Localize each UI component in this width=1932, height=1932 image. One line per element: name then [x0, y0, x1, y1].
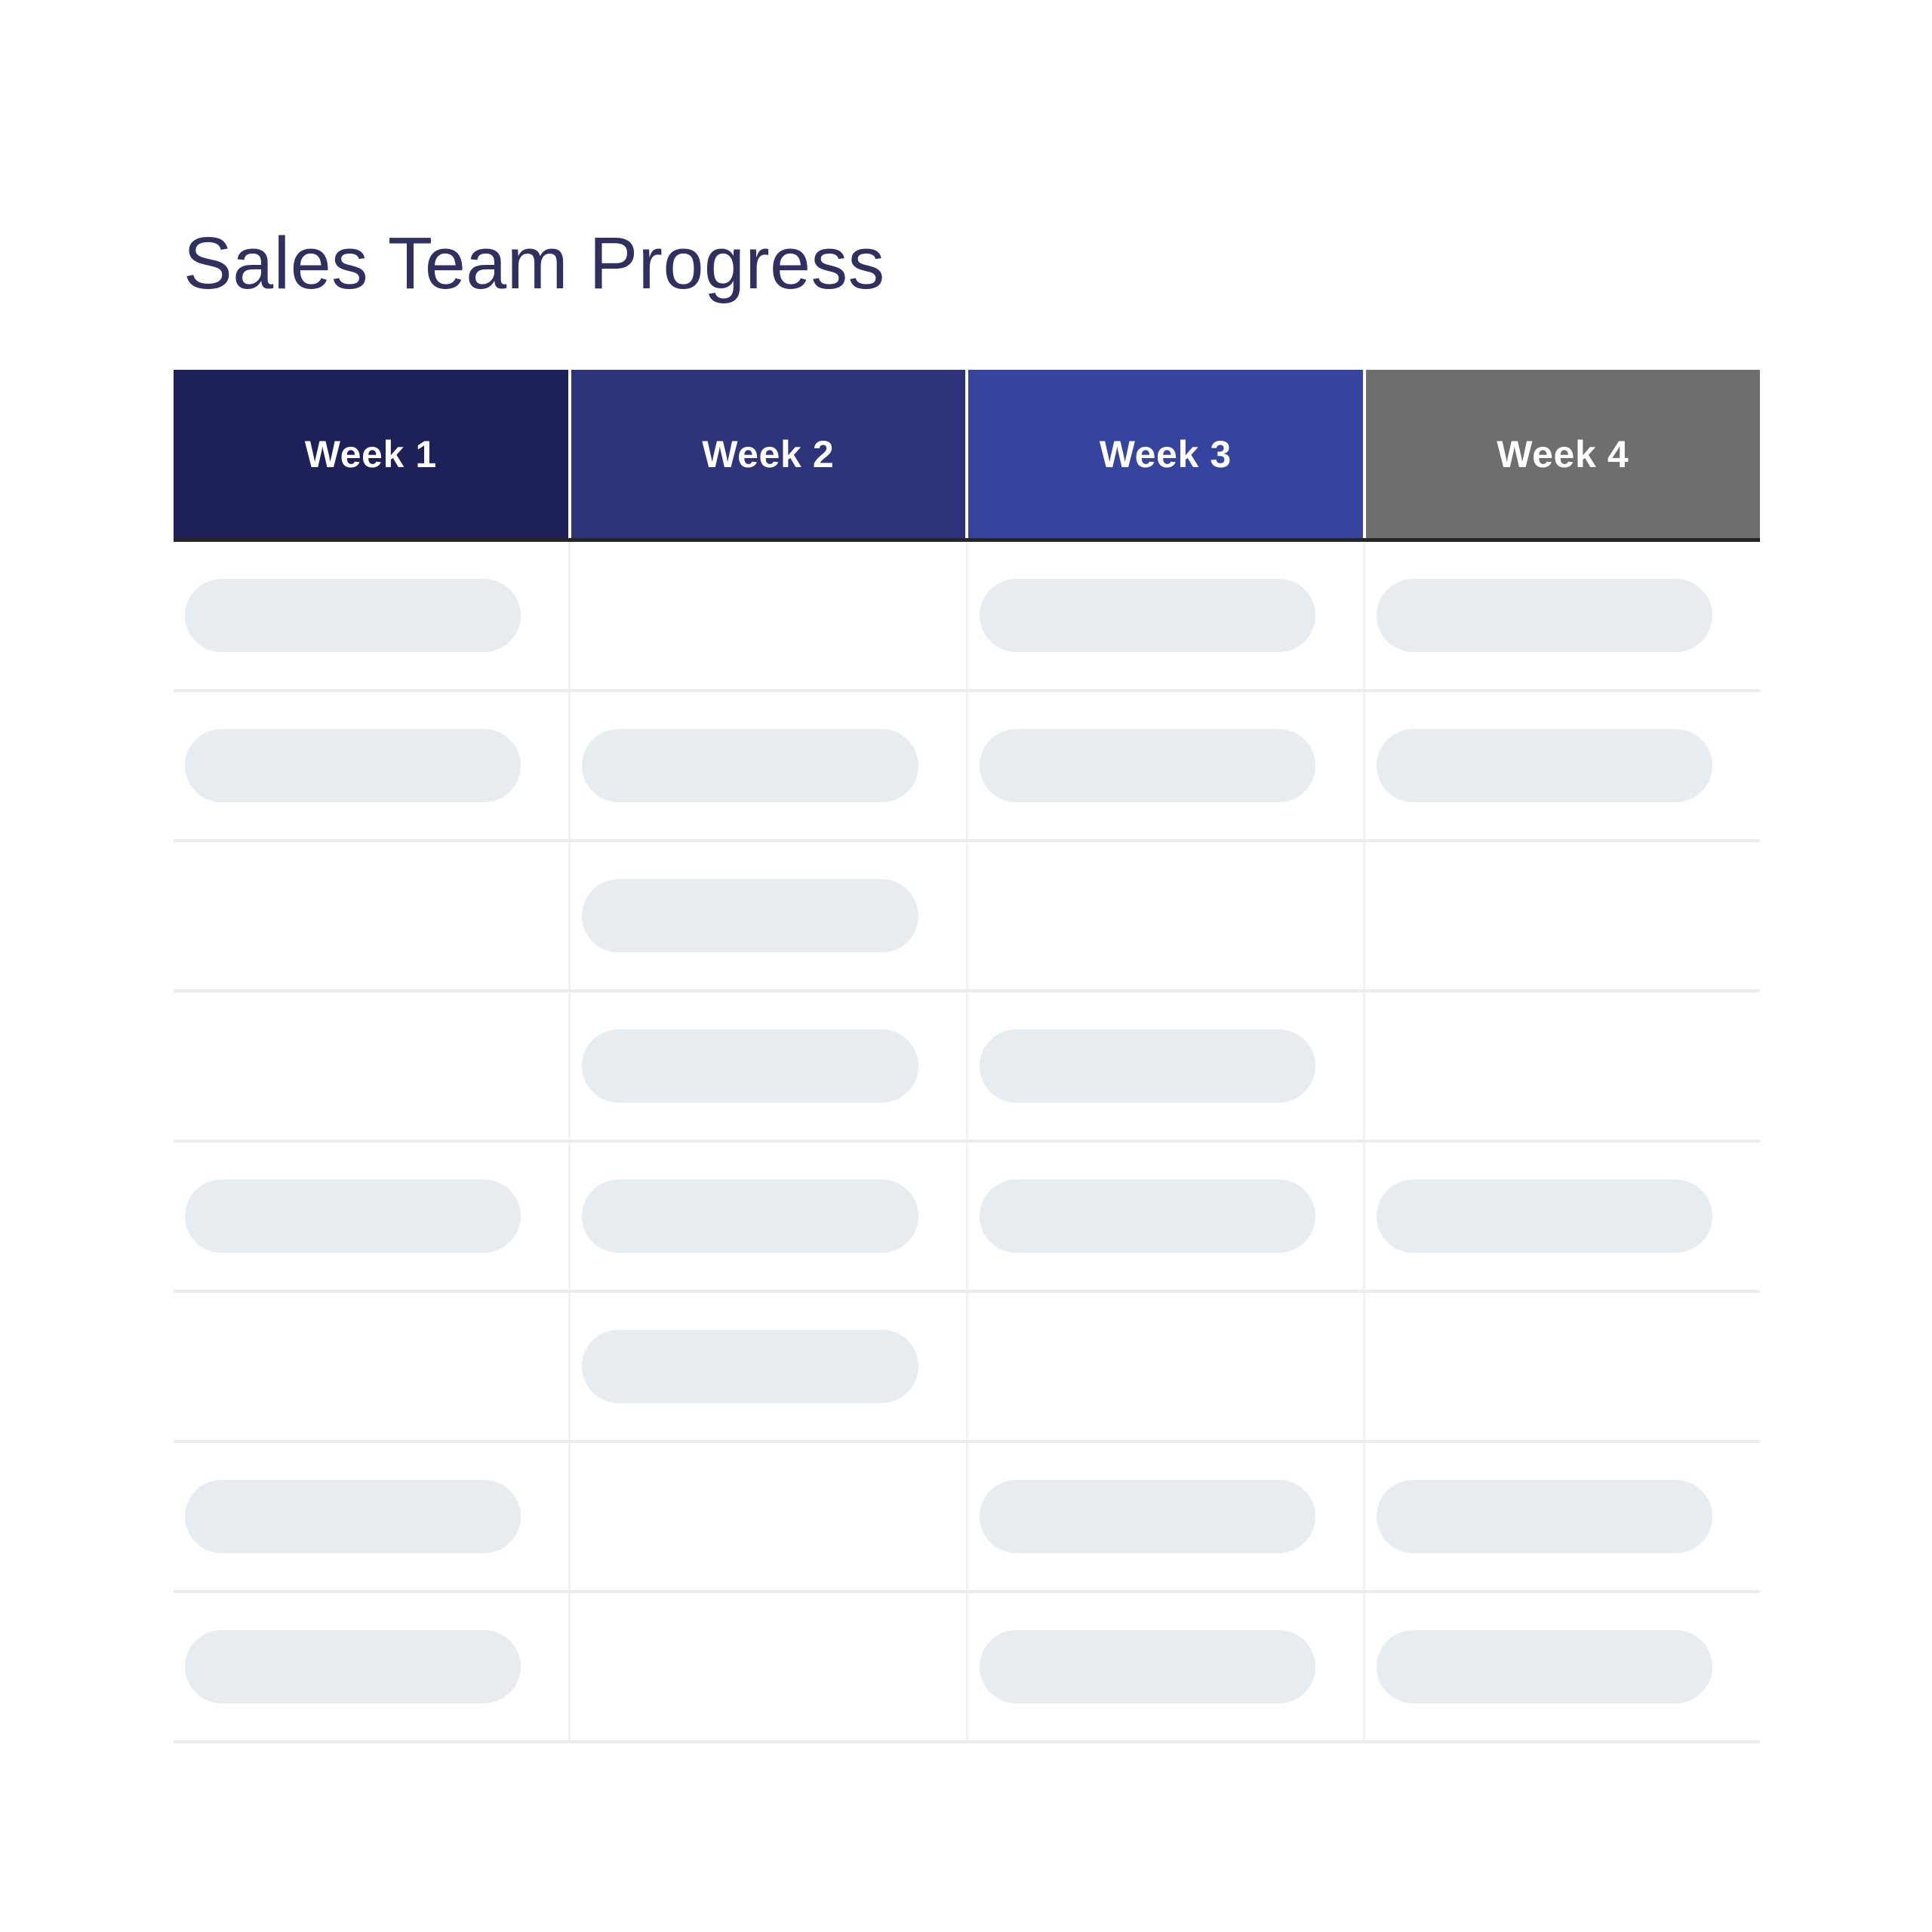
- table-cell[interactable]: [968, 1143, 1365, 1290]
- skeleton-placeholder: [185, 1480, 521, 1553]
- table-cell[interactable]: [571, 1143, 968, 1290]
- table-cell[interactable]: [174, 1593, 571, 1740]
- table-cell[interactable]: [174, 992, 571, 1140]
- column-header-label: Week 2: [702, 435, 834, 473]
- table-row: [174, 992, 1760, 1143]
- table-cell[interactable]: [571, 542, 968, 689]
- skeleton-placeholder: [1377, 1480, 1712, 1553]
- table-cell[interactable]: [174, 1443, 571, 1590]
- skeleton-placeholder: [185, 1180, 521, 1253]
- column-header-week-4[interactable]: Week 4: [1366, 370, 1761, 538]
- table-row: [174, 842, 1760, 992]
- skeleton-placeholder: [185, 729, 521, 802]
- table-cell[interactable]: [968, 842, 1365, 989]
- table-cell[interactable]: [1365, 542, 1760, 689]
- table-cell[interactable]: [968, 1443, 1365, 1590]
- table-row: [174, 542, 1760, 692]
- table-row: [174, 692, 1760, 842]
- page-title: Sales Team Progress: [183, 221, 885, 306]
- table-cell[interactable]: [1365, 842, 1760, 989]
- skeleton-placeholder: [185, 1630, 521, 1703]
- column-header-label: Week 3: [1100, 435, 1232, 473]
- column-header-week-2[interactable]: Week 2: [571, 370, 969, 538]
- skeleton-placeholder: [980, 1480, 1315, 1553]
- column-header-label: Week 1: [305, 435, 437, 473]
- table-row: [174, 1293, 1760, 1443]
- page-root: Sales Team Progress Week 1 Week 2 Week 3…: [0, 0, 1932, 1932]
- table-cell[interactable]: [1365, 692, 1760, 839]
- table-cell[interactable]: [174, 842, 571, 989]
- table-cell[interactable]: [571, 842, 968, 989]
- table-cell[interactable]: [571, 992, 968, 1140]
- table-cell[interactable]: [1365, 1443, 1760, 1590]
- table-row: [174, 1443, 1760, 1593]
- skeleton-placeholder: [980, 1630, 1315, 1703]
- table-cell[interactable]: [174, 692, 571, 839]
- table-cell[interactable]: [968, 1293, 1365, 1440]
- skeleton-placeholder: [980, 1029, 1315, 1103]
- table-cell[interactable]: [968, 692, 1365, 839]
- column-header-week-3[interactable]: Week 3: [968, 370, 1366, 538]
- skeleton-placeholder: [1377, 1180, 1712, 1253]
- table-cell[interactable]: [571, 1443, 968, 1590]
- table-cell[interactable]: [174, 1143, 571, 1290]
- skeleton-placeholder: [1377, 729, 1712, 802]
- table-cell[interactable]: [1365, 1143, 1760, 1290]
- table-cell[interactable]: [571, 692, 968, 839]
- skeleton-placeholder: [582, 729, 918, 802]
- table-header-row: Week 1 Week 2 Week 3 Week 4: [174, 370, 1760, 542]
- table-cell[interactable]: [174, 1293, 571, 1440]
- table-cell[interactable]: [968, 992, 1365, 1140]
- skeleton-placeholder: [1377, 1630, 1712, 1703]
- skeleton-placeholder: [582, 1029, 918, 1103]
- skeleton-placeholder: [582, 879, 918, 952]
- table-cell[interactable]: [1365, 1293, 1760, 1440]
- table-cell[interactable]: [174, 542, 571, 689]
- progress-table: Week 1 Week 2 Week 3 Week 4: [174, 370, 1760, 1743]
- table-body: [174, 542, 1760, 1743]
- column-header-label: Week 4: [1497, 435, 1629, 473]
- table-cell[interactable]: [571, 1293, 968, 1440]
- column-header-week-1[interactable]: Week 1: [174, 370, 571, 538]
- table-cell[interactable]: [571, 1593, 968, 1740]
- skeleton-placeholder: [980, 729, 1315, 802]
- table-cell[interactable]: [968, 542, 1365, 689]
- skeleton-placeholder: [582, 1330, 918, 1403]
- skeleton-placeholder: [185, 579, 521, 652]
- skeleton-placeholder: [1377, 579, 1712, 652]
- skeleton-placeholder: [582, 1180, 918, 1253]
- skeleton-placeholder: [980, 1180, 1315, 1253]
- table-row: [174, 1593, 1760, 1743]
- table-cell[interactable]: [1365, 992, 1760, 1140]
- skeleton-placeholder: [980, 579, 1315, 652]
- table-cell[interactable]: [1365, 1593, 1760, 1740]
- table-row: [174, 1143, 1760, 1293]
- table-cell[interactable]: [968, 1593, 1365, 1740]
